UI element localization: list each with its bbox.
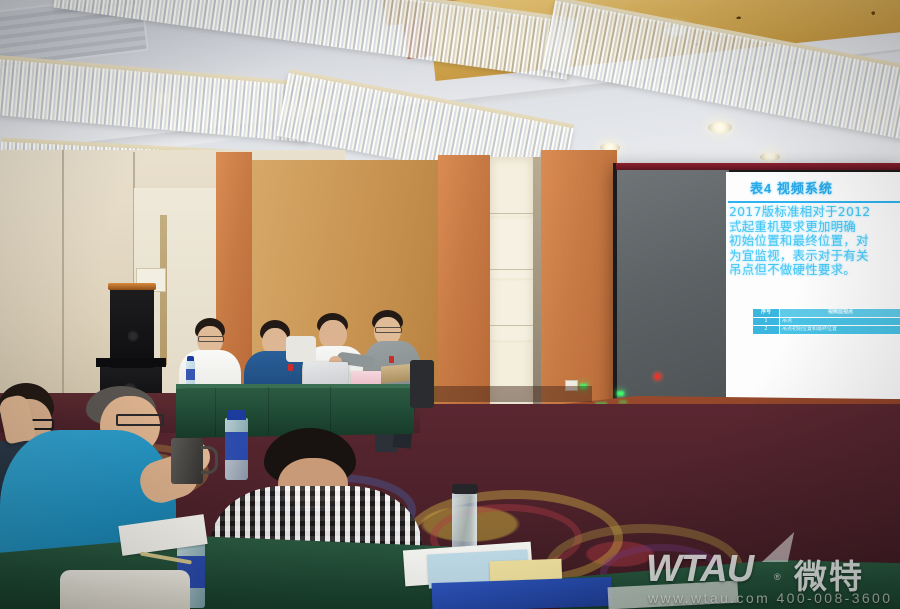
partition-seam	[62, 150, 64, 420]
chair-back	[410, 360, 434, 408]
table-cell-index: 2	[753, 326, 780, 335]
conference-room-photo: 表4 视频系统 2017版标准相对于2012 式起重机要求更加明确 初始位置和最…	[0, 0, 900, 609]
wood-wall-panel-right	[438, 155, 490, 405]
chair-back	[286, 336, 316, 362]
head-table-top-edge	[176, 384, 414, 388]
folder-blue	[432, 577, 613, 609]
screen-unlit-area	[617, 170, 729, 410]
thermos-cup	[171, 438, 203, 484]
marble-column	[490, 157, 533, 405]
slide-body-line: 式起重机要求更加明确	[729, 220, 900, 235]
slide-title: 表4 视频系统	[750, 178, 833, 197]
projector-power-indicator	[654, 373, 661, 380]
table-row: 序号 视频监视点	[753, 309, 900, 318]
table-cell-index: 1	[753, 317, 780, 326]
tablecloth-fold	[268, 387, 269, 435]
column-reveal-dark	[533, 157, 541, 405]
tumbler-cap	[452, 484, 478, 494]
speaker-top-cabinet	[110, 288, 154, 368]
downlight-icon	[760, 153, 780, 161]
thermos-handle-icon	[201, 446, 218, 474]
table-cell-value: 吊点初始位置和最终位置	[780, 326, 900, 335]
bottle-cap	[187, 356, 194, 361]
presentation-slide: 表4 视频系统 2017版标准相对于2012 式起重机要求更加明确 初始位置和最…	[726, 172, 900, 408]
tablecloth-fold	[330, 386, 331, 435]
screen-status-led	[617, 391, 624, 396]
head	[319, 320, 347, 349]
chair-seatback	[60, 570, 190, 609]
slide-divider	[728, 201, 900, 203]
shirt-emblem	[389, 356, 394, 363]
downlight-icon	[708, 122, 732, 133]
table-row: 2 吊点初始位置和最终位置	[753, 326, 900, 335]
slide-body: 2017版标准相对于2012 式起重机要求更加明确 初始位置和最终位置，对 为宜…	[729, 205, 900, 278]
wood-wall-panel-far-right	[541, 150, 617, 408]
bottle-label	[225, 432, 248, 460]
bottle-cap	[227, 410, 246, 420]
table-cell-value: 吊点	[780, 317, 900, 326]
slide-table: 序号 视频监视点 1 吊点 2 吊点初始位置和最终位置	[752, 308, 900, 335]
slide-body-line: 2017版标准相对于2012	[729, 205, 900, 220]
glasses-icon	[116, 414, 164, 426]
glasses-icon	[375, 327, 402, 333]
screen-top-rail	[616, 163, 900, 170]
slide-body-line: 吊点但不做硬性要求。	[729, 263, 900, 278]
speaker-driver-icon	[127, 330, 139, 342]
slide-body-line: 初始位置和最终位置，对	[729, 234, 900, 249]
glasses-icon	[198, 336, 224, 342]
speaker-top-trim	[108, 283, 156, 290]
speaker-stand	[96, 358, 166, 367]
table-row: 1 吊点	[753, 317, 900, 326]
table-header-cell: 视频监视点	[780, 309, 900, 318]
tablecloth-fold	[215, 388, 216, 436]
table-header-cell: 序号	[753, 309, 780, 318]
bottle-label	[186, 369, 195, 380]
water-tumbler	[452, 492, 477, 552]
shirt-emblem	[288, 364, 293, 371]
